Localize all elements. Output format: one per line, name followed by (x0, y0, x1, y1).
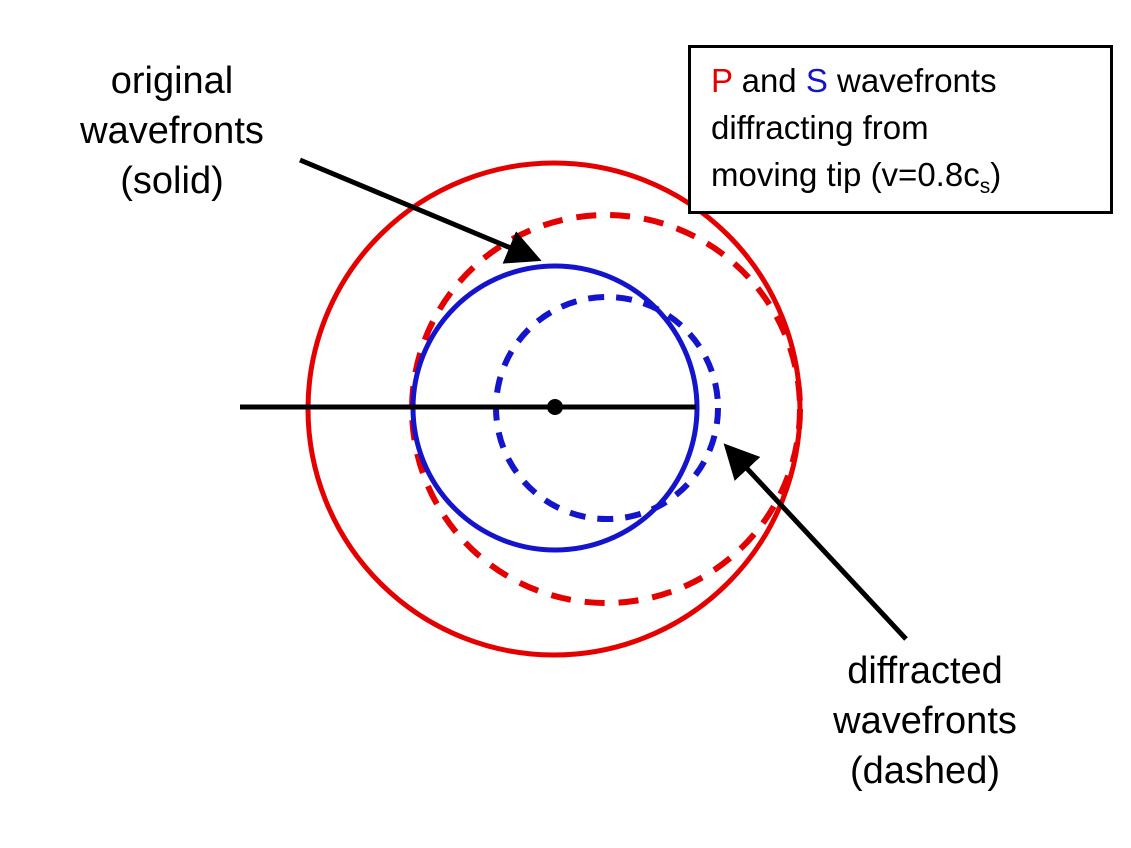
legend-velocity-post: ) (990, 156, 1001, 193)
legend-line1-end: wavefronts (828, 62, 997, 99)
legend-velocity-pre: moving tip (v=0.8c (711, 156, 980, 193)
label-diffracted-line2: wavefronts (760, 696, 1090, 746)
legend-velocity-subscript: s (980, 175, 991, 198)
legend-line-2: diffracting from (711, 104, 1001, 151)
diffracted-wavefronts-arrow (727, 447, 906, 639)
label-diffracted-line1: diffracted (760, 646, 1090, 696)
legend-box: P and S wavefronts diffracting from movi… (688, 45, 1113, 214)
legend-line1-mid: and (732, 62, 805, 99)
label-original-line1: original (22, 56, 322, 106)
legend-text: P and S wavefronts diffracting from movi… (711, 57, 1001, 203)
s-wave-symbol: S (806, 62, 828, 99)
source-point-dot (547, 399, 563, 415)
wavefront-diagram: original wavefronts (solid) diffracted w… (0, 0, 1131, 848)
label-original-line3: (solid) (22, 156, 322, 206)
legend-line-3: moving tip (v=0.8cs) (711, 151, 1001, 203)
p-wave-symbol: P (711, 62, 732, 99)
legend-line-1: P and S wavefronts (711, 57, 1001, 104)
label-original-line2: wavefronts (22, 106, 322, 156)
original-wavefronts-arrow (300, 160, 537, 259)
label-diffracted-wavefronts: diffracted wavefronts (dashed) (760, 646, 1090, 796)
label-diffracted-line3: (dashed) (760, 746, 1090, 796)
label-original-wavefronts: original wavefronts (solid) (22, 56, 322, 206)
